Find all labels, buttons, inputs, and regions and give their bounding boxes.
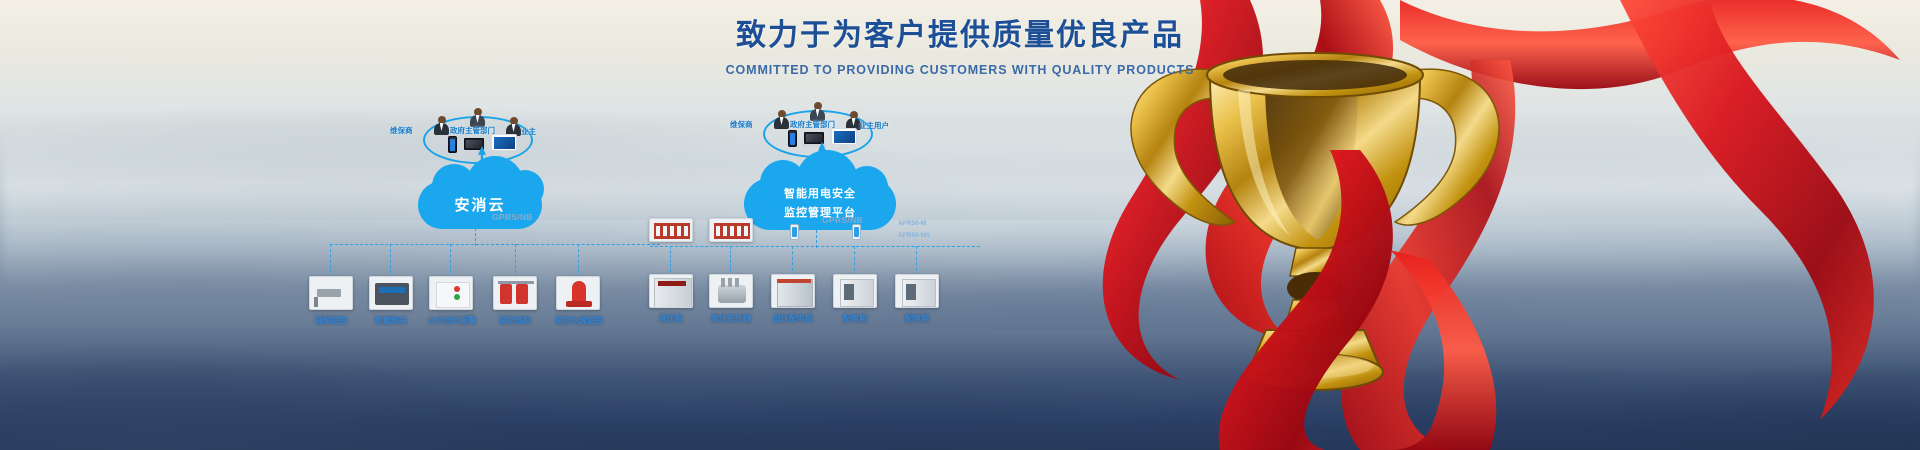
- bus-drop: [578, 244, 579, 278]
- bus-drop: [450, 244, 451, 278]
- person-icon-maintainer: [434, 116, 450, 136]
- right-platform-label-line2: 监控管理平台: [784, 204, 856, 220]
- bus-drop: [475, 228, 476, 246]
- promo-banner: 致力于为客户提供质量优良产品 COMMITTED TO PROVIDING CU…: [0, 0, 1920, 450]
- device-tile: 低压配电柜: [770, 274, 816, 324]
- headline-block: 致力于为客户提供质量优良产品 COMMITTED TO PROVIDING CU…: [0, 10, 1920, 77]
- person-icon-maintainer: [774, 110, 790, 130]
- page-title: 致力于为客户提供质量优良产品: [0, 10, 1920, 54]
- user-label-maintainer: 维保商: [390, 125, 413, 136]
- device-caption: 高压柜: [648, 313, 694, 324]
- device-caption: 配电箱: [832, 313, 878, 324]
- page-subtitle: COMMITTED TO PROVIDING CUSTOMERS WITH QU…: [0, 63, 1920, 77]
- device-tag: AFR50-M: [898, 220, 926, 227]
- water-source-icon: [556, 276, 600, 310]
- bus-drop: [816, 230, 817, 248]
- device-caption: 配电箱: [894, 313, 940, 324]
- device-caption: 火灾自动报警: [428, 315, 474, 326]
- device-tag: AFR50-M1: [898, 232, 930, 239]
- monitor-icon: [831, 128, 857, 149]
- device-tile: 高压柜: [648, 274, 694, 324]
- meter-tile: [648, 218, 694, 242]
- device-tile: 视频监控: [308, 276, 354, 326]
- phone-icon: [788, 130, 797, 147]
- fire-inspection-icon: [493, 276, 537, 310]
- device-caption: 智能网关: [368, 315, 414, 326]
- device-tile: 消防巡检: [492, 276, 538, 326]
- camera-icon: [309, 276, 353, 310]
- device-tile: 火灾自动报警: [428, 276, 474, 326]
- phone-icon: [448, 136, 457, 153]
- bus-drop: [730, 246, 731, 272]
- device-tile: 高压变压器: [708, 274, 754, 324]
- bus-drop: [854, 246, 855, 276]
- user-label-owner: 业主: [521, 126, 536, 137]
- user-label-government: 政府主管部门: [790, 119, 835, 130]
- bus-drop: [390, 244, 391, 278]
- user-label-enterprise: 业主用户: [859, 120, 889, 131]
- bus-drop: [330, 244, 331, 278]
- device-caption: 消防水源监控: [555, 315, 601, 326]
- lv-distribution-cabinet-icon: [771, 274, 815, 308]
- bus-line: [650, 246, 980, 247]
- user-label-government: 政府主管部门: [450, 125, 495, 136]
- device-caption: 高压变压器: [708, 313, 754, 324]
- device-tile: 配电箱: [894, 274, 940, 324]
- distribution-box-icon: [895, 274, 939, 308]
- bus-line: [330, 244, 660, 245]
- diagram-left: 维保商 政府主管部门 业主 安消云 GPRS/NB: [300, 86, 640, 426]
- distribution-box-icon: [833, 274, 877, 308]
- hv-transformer-icon: [709, 274, 753, 308]
- right-platform-label-line1: 智能用电安全: [784, 185, 856, 201]
- device-tile: 消防水源监控: [555, 276, 601, 326]
- device-caption: 低压配电柜: [770, 313, 816, 324]
- bus-drop: [515, 244, 516, 278]
- diagram-right: 维保商 政府主管部门 业主用户 智能用电安全 监控管理平台: [640, 86, 980, 426]
- fire-alarm-icon: [429, 276, 473, 310]
- right-platform-label: 智能用电安全 监控管理平台: [744, 174, 896, 230]
- device-tile: 配电箱: [832, 274, 878, 324]
- bus-drop: [916, 246, 917, 276]
- left-user-group: 维保商 政府主管部门 业主: [418, 108, 538, 168]
- device-caption: 视频监控: [308, 315, 354, 326]
- gateway-icon: [369, 276, 413, 310]
- bus-drop: [670, 246, 671, 272]
- user-label-maintainer: 维保商: [730, 119, 753, 130]
- bus-drop: [792, 246, 793, 276]
- monitor-icon: [491, 134, 517, 155]
- device-caption: 消防巡检: [492, 315, 538, 326]
- left-platform-label: 安消云: [418, 181, 542, 227]
- hv-cabinet-icon: [649, 274, 693, 308]
- device-tile: 智能网关: [368, 276, 414, 326]
- meter-icon: [649, 218, 693, 242]
